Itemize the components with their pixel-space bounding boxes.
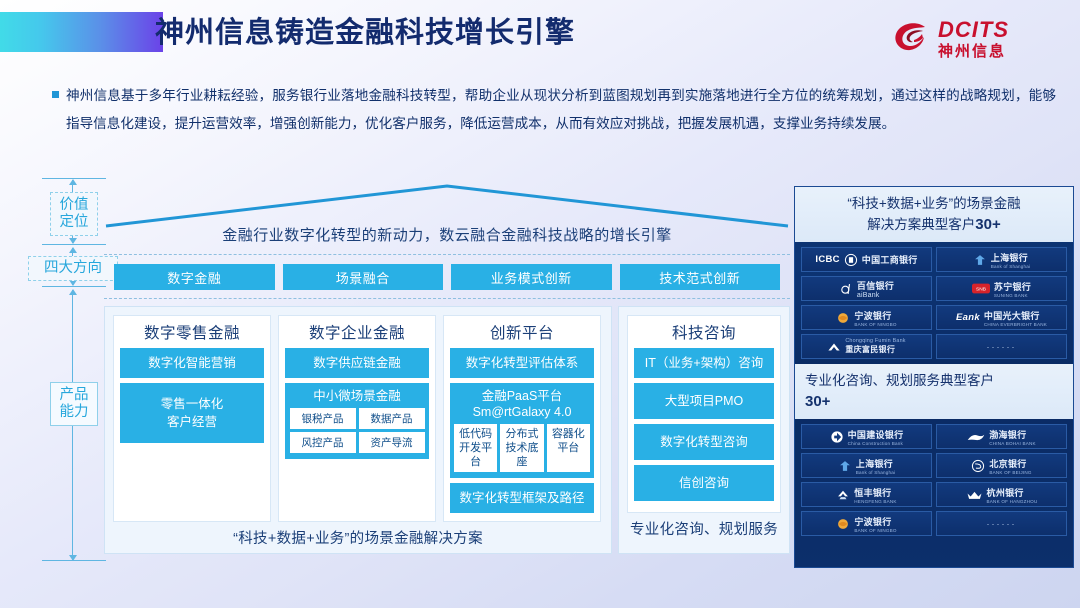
logo-name: 宁波银行 — [854, 515, 891, 528]
section2-title-text: 专业化咨询、规划服务典型客户 — [805, 373, 994, 388]
bullet-square-icon — [52, 91, 59, 98]
capability-item[interactable]: 数字化转型评估体系 — [450, 348, 594, 378]
logo-name-en: CHINA BOHAI BANK — [989, 441, 1036, 446]
hengfeng-bank-logo — [836, 488, 850, 502]
bank-of-beijing-logo — [971, 459, 985, 473]
sub-item[interactable]: 风控产品 — [290, 432, 356, 453]
logo-text-cn: 神州信息 — [938, 40, 1006, 61]
capability-item[interactable]: 数字供应链金融 — [285, 348, 429, 378]
column-tech-consulting: 科技咨询 IT（业务+架构）咨询 大型项目PMO 数字化转型咨询 信创咨询 — [627, 315, 781, 513]
section1-logo-grid: ICBC 中国工商银行 上海银行 Bank of Shanghai 百信银行 a… — [795, 242, 1073, 364]
column-title: 数字零售金融 — [120, 321, 264, 343]
logo-name-en: HENGFENG BANK — [854, 499, 896, 504]
scenario-columns: 数字零售金融 数字化智能营销 零售一体化客户经营 数字企业金融 数字供应链金融 … — [113, 315, 603, 522]
logo-cell-bank-of-hangzhou[interactable]: 杭州银行 BANK OF HANGZHOU — [936, 482, 1067, 507]
section2-count: 30+ — [805, 393, 830, 410]
column-digital-retail-finance: 数字零售金融 数字化智能营销 零售一体化客户经营 — [113, 315, 271, 522]
direction-item-3[interactable]: 技术范式创新 — [620, 264, 781, 290]
section1-title-line1: “科技+数据+业务”的场景金融 — [847, 196, 1020, 211]
column-title: 科技咨询 — [634, 321, 774, 343]
dcits-swirl-logo — [892, 18, 932, 58]
logo-name-en: Bank of Shanghai — [856, 470, 895, 475]
scenario-finance-panel: 数字零售金融 数字化智能营销 零售一体化客户经营 数字企业金融 数字供应链金融 … — [104, 306, 612, 554]
logo-cell-more: ······ — [936, 334, 1067, 359]
logo-name-en: BANK OF NINGBO — [854, 322, 896, 327]
logo-text: 北京银行 BANK OF BEIJING — [989, 457, 1031, 475]
axis-divider-mid2 — [42, 286, 106, 287]
sub-item[interactable]: 分布式技术底座 — [500, 424, 543, 472]
title-accent-bar — [0, 12, 163, 52]
value-chain-axis: 价值定位 四大方向 产品能力 — [22, 178, 104, 568]
center-diagram: 金融行业数字化转型的新动力，数云融合金融科技战略的增长引擎 数字金融 场景融合 … — [104, 182, 790, 568]
svg-text:SNB: SNB — [976, 287, 986, 293]
bank-of-shanghai-logo — [838, 459, 852, 473]
sub-item[interactable]: 银税产品 — [290, 408, 356, 429]
sub-item[interactable]: 低代码开发平台 — [454, 424, 497, 472]
logo-cell-ccb[interactable]: 中国建设银行 China Construction Bank — [801, 424, 932, 449]
axis-label-value-position: 价值定位 — [50, 192, 98, 236]
everbright-wordmark: Eank — [956, 312, 980, 323]
logo-cell-hengfeng-bank[interactable]: 恒丰银行 HENGFENG BANK — [801, 482, 932, 507]
logo-name: 宁波银行 — [854, 309, 891, 322]
logo-name: 渤海银行 — [989, 428, 1026, 441]
capability-item[interactable]: 数字化转型咨询 — [634, 424, 774, 460]
capability-item[interactable]: 大型项目PMO — [634, 383, 774, 419]
column-spacer — [285, 464, 429, 515]
logo-text: 苏宁银行 SUNING BANK — [994, 280, 1031, 298]
icbc-logo — [844, 253, 858, 267]
column-title: 创新平台 — [450, 321, 594, 343]
logo-cell-bank-of-ningbo-2[interactable]: 宁波银行 BANK OF NINGBO — [801, 511, 932, 536]
fumin-bank-logo — [827, 340, 841, 354]
logo-cell-bank-of-ningbo[interactable]: 宁波银行 BANK OF NINGBO — [801, 305, 932, 330]
caption-scenario-solution: “科技+数据+业务”的场景金融解决方案 — [113, 522, 603, 554]
section2-title: 专业化咨询、规划服务典型客户30+ — [795, 364, 1073, 419]
capability-item[interactable]: 零售一体化客户经营 — [120, 383, 264, 443]
capability-item[interactable]: 数字化智能营销 — [120, 348, 264, 378]
logo-text: 百信银行 aiBank — [857, 279, 894, 299]
axis-label-product-capability: 产品能力 — [50, 382, 98, 426]
logo-cell-fumin-bank[interactable]: Chongqing Fumin Bank 重庆富民银行 — [801, 334, 932, 359]
logo-cell-more-2: ······ — [936, 511, 1067, 536]
logo-text: 中国光大银行 CHINA EVERBRIGHT BANK — [984, 309, 1047, 327]
sub-item[interactable]: 容器化平台 — [547, 424, 590, 472]
logo-text: 宁波银行 BANK OF NINGBO — [854, 515, 896, 533]
logo-text: 上海银行 Bank of Shanghai — [856, 457, 895, 475]
bank-of-shanghai-logo — [973, 253, 987, 267]
capability-item[interactable]: 数字化转型框架及路径 — [450, 483, 594, 513]
logo-cell-bank-of-shanghai[interactable]: 上海银行 Bank of Shanghai — [936, 247, 1067, 272]
sub-item[interactable]: 数据产品 — [359, 408, 425, 429]
tagline: 金融行业数字化转型的新动力，数云融合金融科技战略的增长引擎 — [104, 224, 790, 245]
ellipsis-dots-icon: ······ — [987, 342, 1017, 352]
column-digital-enterprise-finance: 数字企业金融 数字供应链金融 中小微场景金融 银税产品 数据产品 风控产品 资产… — [278, 315, 436, 522]
logo-name: 杭州银行 — [987, 486, 1024, 499]
logo-cell-aibank[interactable]: 百信银行 aiBank — [801, 276, 932, 301]
section1-count: 30+ — [975, 216, 1000, 233]
logo-text: 上海银行 Bank of Shanghai — [991, 251, 1030, 269]
logo-name: 百信银行 — [857, 279, 894, 292]
logo-name-en: China Construction Bank — [848, 441, 903, 446]
capability-item[interactable]: 信创咨询 — [634, 465, 774, 501]
ccb-logo — [830, 430, 844, 444]
axis-divider-mid1 — [42, 244, 106, 245]
logo-name: 恒丰银行 — [854, 486, 891, 499]
logo-cell-bank-of-beijing[interactable]: 北京银行 BANK OF BEIJING — [936, 453, 1067, 478]
logo-name: 苏宁银行 — [994, 280, 1031, 293]
caption-consulting-service: 专业化咨询、规划服务 — [627, 513, 781, 545]
ellipsis-dots-icon: ······ — [987, 519, 1017, 529]
logo-text: 中国建设银行 China Construction Bank — [848, 428, 904, 446]
logo-cell-everbright-bank[interactable]: Eank 中国光大银行 CHINA EVERBRIGHT BANK — [936, 305, 1067, 330]
column-title: 数字企业金融 — [285, 321, 429, 343]
column-spacer — [120, 448, 264, 515]
bohai-bank-logo — [967, 430, 985, 444]
capability-item[interactable]: IT（业务+架构）咨询 — [634, 348, 774, 378]
logo-name-en: BANK OF HANGZHOU — [987, 499, 1038, 504]
intro-text: 神州信息基于多年行业耕耘经验，服务银行业落地金融科技转型，帮助企业从现状分析到蓝… — [66, 82, 1056, 138]
group-children: 低代码开发平台 分布式技术底座 容器化平台 — [454, 424, 590, 472]
bank-of-ningbo-logo — [836, 517, 850, 531]
capability-group-paas-platform: 金融PaaS平台Sm@rtGalaxy 4.0 低代码开发平台 分布式技术底座 … — [450, 383, 594, 478]
logo-name: 中国建设银行 — [848, 428, 904, 441]
direction-item-0[interactable]: 数字金融 — [114, 264, 275, 290]
logo-cell-bank-of-shanghai-2[interactable]: 上海银行 Bank of Shanghai — [801, 453, 932, 478]
suning-bank-logo: SNB — [972, 283, 990, 294]
direction-item-2[interactable]: 业务模式创新 — [451, 264, 612, 290]
logo-name: 上海银行 — [856, 457, 893, 470]
consulting-panel: 科技咨询 IT（业务+架构）咨询 大型项目PMO 数字化转型咨询 信创咨询 专业… — [618, 306, 790, 554]
group-children: 银税产品 数据产品 风控产品 资产导流 — [289, 408, 425, 453]
logo-text: 宁波银行 BANK OF NINGBO — [854, 309, 896, 327]
customer-logos-panel: “科技+数据+业务”的场景金融 解决方案典型客户30+ ICBC 中国工商银行 … — [794, 186, 1074, 568]
logo-name-en: CHINA EVERBRIGHT BANK — [984, 322, 1047, 327]
bank-of-hangzhou-logo — [966, 488, 983, 502]
dash-divider-1 — [104, 254, 790, 255]
column-innovation-platform: 创新平台 数字化转型评估体系 金融PaaS平台Sm@rtGalaxy 4.0 低… — [443, 315, 601, 522]
page-header: 神州信息铸造金融科技增长引擎 DCITS 神州信息 — [0, 0, 1080, 74]
logo-text: 恒丰银行 HENGFENG BANK — [854, 486, 896, 504]
page-title: 神州信息铸造金融科技增长引擎 — [155, 9, 575, 51]
bank-of-ningbo-logo — [836, 311, 850, 325]
section2-logo-grid: 中国建设银行 China Construction Bank 渤海银行 CHIN… — [795, 419, 1073, 541]
brand-logo: DCITS 神州信息 — [892, 16, 1042, 62]
logo-name: 中国光大银行 — [984, 309, 1040, 322]
logo-name: 重庆富民银行 — [845, 344, 895, 355]
logo-text: Chongqing Fumin Bank 重庆富民银行 — [845, 338, 905, 355]
section1-title: “科技+数据+业务”的场景金融 解决方案典型客户30+ — [795, 187, 1073, 242]
direction-item-1[interactable]: 场景融合 — [283, 264, 444, 290]
logo-name: 北京银行 — [989, 457, 1026, 470]
group-title: 中小微场景金融 — [289, 388, 425, 404]
roof-shape-icon — [104, 182, 790, 230]
four-directions-row: 数字金融 场景融合 业务模式创新 技术范式创新 — [114, 264, 780, 290]
intro-paragraph: 神州信息基于多年行业耕耘经验，服务银行业落地金融科技转型，帮助企业从现状分析到蓝… — [44, 82, 1056, 138]
logo-cell-icbc[interactable]: ICBC 中国工商银行 — [801, 247, 932, 272]
logo-text: 渤海银行 CHINA BOHAI BANK — [989, 428, 1036, 446]
logo-name-en: BANK OF BEIJING — [989, 470, 1031, 475]
logo-cell-bohai-bank[interactable]: 渤海银行 CHINA BOHAI BANK — [936, 424, 1067, 449]
logo-name: 中国工商银行 — [862, 253, 918, 266]
capability-group-sme-scenario: 中小微场景金融 银税产品 数据产品 风控产品 资产导流 — [285, 383, 429, 459]
logo-name-en: BANK OF NINGBO — [854, 528, 896, 533]
logo-name-en: aiBank — [857, 292, 880, 299]
icbc-wordmark: ICBC — [815, 254, 839, 265]
logo-text: 杭州银行 BANK OF HANGZHOU — [987, 486, 1038, 504]
dash-divider-2 — [104, 298, 790, 299]
sub-item[interactable]: 资产导流 — [359, 432, 425, 453]
capability-panels: 数字零售金融 数字化智能营销 零售一体化客户经营 数字企业金融 数字供应链金融 … — [104, 306, 790, 554]
section1-title-line2: 解决方案典型客户 — [867, 217, 975, 232]
logo-name: 上海银行 — [991, 251, 1028, 264]
logo-cell-suning-bank[interactable]: SNB 苏宁银行 SUNING BANK — [936, 276, 1067, 301]
aibank-logo — [839, 282, 853, 296]
logo-name-en: Bank of Shanghai — [991, 264, 1030, 269]
group-title: 金融PaaS平台Sm@rtGalaxy 4.0 — [454, 388, 590, 420]
logo-name-en: SUNING BANK — [994, 293, 1028, 298]
